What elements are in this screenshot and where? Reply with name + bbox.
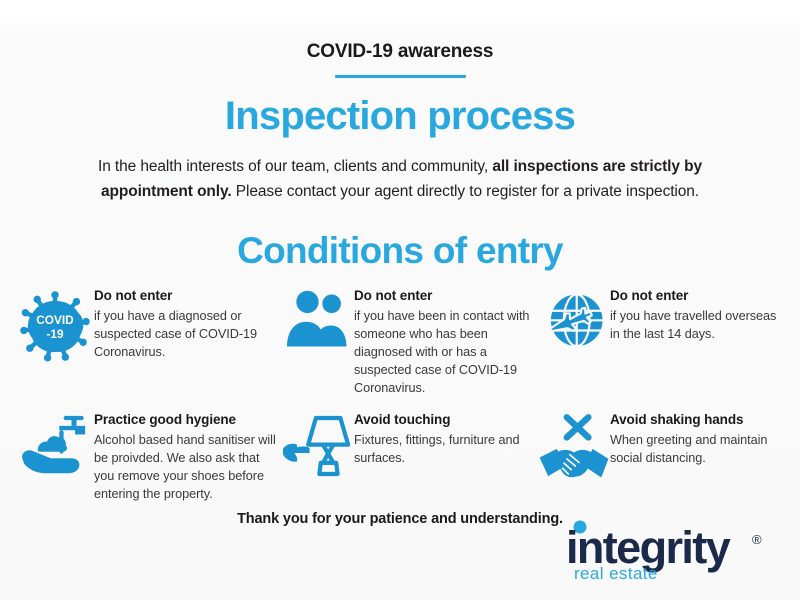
section-title-conditions: Conditions of entry [0,232,800,271]
condition-text: Avoid shaking hands When greeting and ma… [610,411,786,467]
condition-item: Practice good hygiene Alcohol based hand… [14,411,282,503]
cross-mark-icon [567,417,589,437]
conditions-row-1: COVID -19 Do not enter if you have a dia… [14,287,786,397]
conditions-row-2: Practice good hygiene Alcohol based hand… [14,411,786,503]
globe-airplane-icon [538,287,610,357]
logo-trademark: ® [752,532,762,547]
header-divider [335,75,466,78]
condition-text: Do not enter if you have been in contact… [354,287,538,397]
condition-body: if you have travelled overseas in the la… [610,307,786,343]
condition-body: if you have a diagnosed or suspected cas… [94,307,282,361]
lamp-pointing-hand-icon [282,411,354,479]
condition-title: Do not enter [354,288,538,305]
condition-body: Alcohol based hand sanitiser will be pro… [94,431,282,503]
condition-text: Do not enter if you have a diagnosed or … [94,287,282,361]
eyebrow-heading: COVID-19 awareness [0,0,800,63]
conditions-grid: COVID -19 Do not enter if you have a dia… [0,287,800,503]
condition-text: Practice good hygiene Alcohol based hand… [94,411,282,503]
condition-item: Avoid touching Fixtures, fittings, furni… [282,411,538,479]
condition-title: Avoid touching [354,412,538,429]
condition-title: Practice good hygiene [94,412,282,429]
intro-text-1: In the health interests of our team, cli… [98,158,492,175]
condition-item: Do not enter if you have travelled overs… [538,287,786,357]
intro-text-2: Please contact your agent directly to re… [232,183,699,200]
condition-item: Avoid shaking hands When greeting and ma… [538,411,786,489]
condition-title: Avoid shaking hands [610,412,786,429]
page-title: Inspection process [0,95,800,137]
condition-item: COVID -19 Do not enter if you have a dia… [14,287,282,363]
condition-title: Do not enter [610,288,786,305]
covid-virus-icon: COVID -19 [16,287,94,363]
condition-body: When greeting and maintain social distan… [610,431,786,467]
condition-body: Fixtures, fittings, furniture and surfac… [354,431,538,467]
intro-paragraph: In the health interests of our team, cli… [50,154,750,204]
condition-body: if you have been in contact with someone… [354,307,538,397]
condition-item: Do not enter if you have been in contact… [282,287,538,397]
covid-icon-label-bottom: -19 [46,327,64,341]
two-people-icon [282,287,354,347]
condition-text: Do not enter if you have travelled overs… [610,287,786,343]
condition-text: Avoid touching Fixtures, fittings, furni… [354,411,538,467]
covid-icon-label-top: COVID [36,313,74,327]
handwashing-icon [16,411,94,479]
condition-title: Do not enter [94,288,282,305]
integrity-logo: integrity ® real estate [566,518,776,584]
handshake-crossed-icon [538,411,610,489]
logo-tagline: real estate [574,564,658,583]
poster-canvas: COVID-19 awareness Inspection process In… [0,0,800,600]
